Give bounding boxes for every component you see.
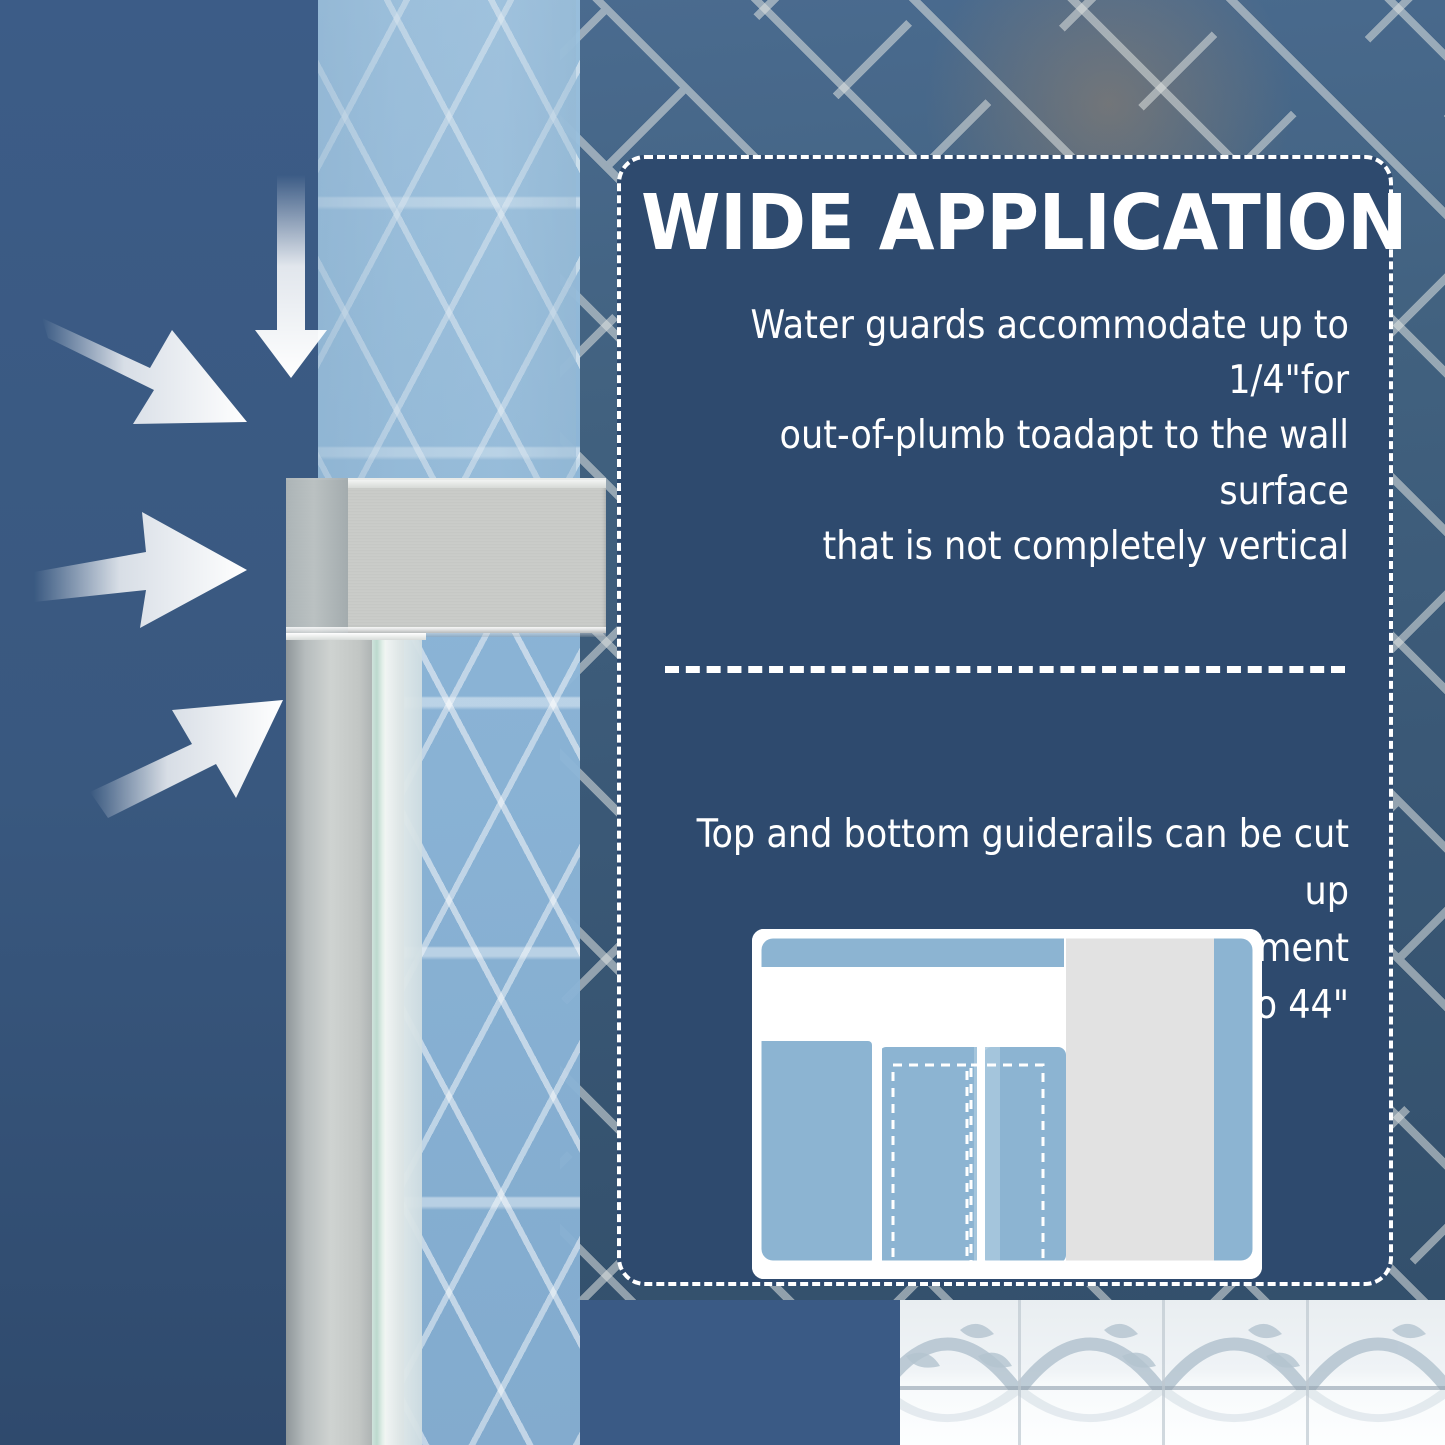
patterned-floor-tile (900, 1300, 1445, 1445)
arrow-down-icon (255, 175, 327, 378)
wall-return-right (1066, 935, 1214, 1263)
page-title: WIDE APPLICATION (637, 185, 1373, 264)
right-edge-glass (1214, 935, 1256, 1263)
feature-1-line-3: that is not completely vertical (657, 519, 1349, 574)
diagram-header-bar (764, 935, 1064, 967)
section-divider (665, 666, 1345, 673)
wide-application-panel: WIDE APPLICATION Water guards accommodat… (617, 155, 1393, 1286)
floor-grout-lines (900, 1300, 1445, 1445)
fixed-panel-left (758, 1041, 872, 1263)
feature-1-line-2: out-of-plumb toadapt to the wall surface (657, 408, 1349, 519)
width-adjustment-diagram (752, 929, 1262, 1279)
feature-1-line-1: Water guards accommodate up to 1/4"for (657, 298, 1349, 409)
arrow-right-lower-icon (90, 700, 283, 818)
arrow-right-upper-icon (42, 318, 247, 424)
product-feature-image: WIDE APPLICATION Water guards accommodat… (0, 0, 1445, 1445)
pressure-arrows-group (0, 0, 640, 900)
feature-2-line-1: Top and bottom guiderails can be cut up (657, 807, 1349, 921)
diagram-artwork (752, 929, 1262, 1279)
arrow-right-middle-icon (34, 512, 247, 628)
feature-description-1: Water guards accommodate up to 1/4"for o… (657, 298, 1349, 575)
